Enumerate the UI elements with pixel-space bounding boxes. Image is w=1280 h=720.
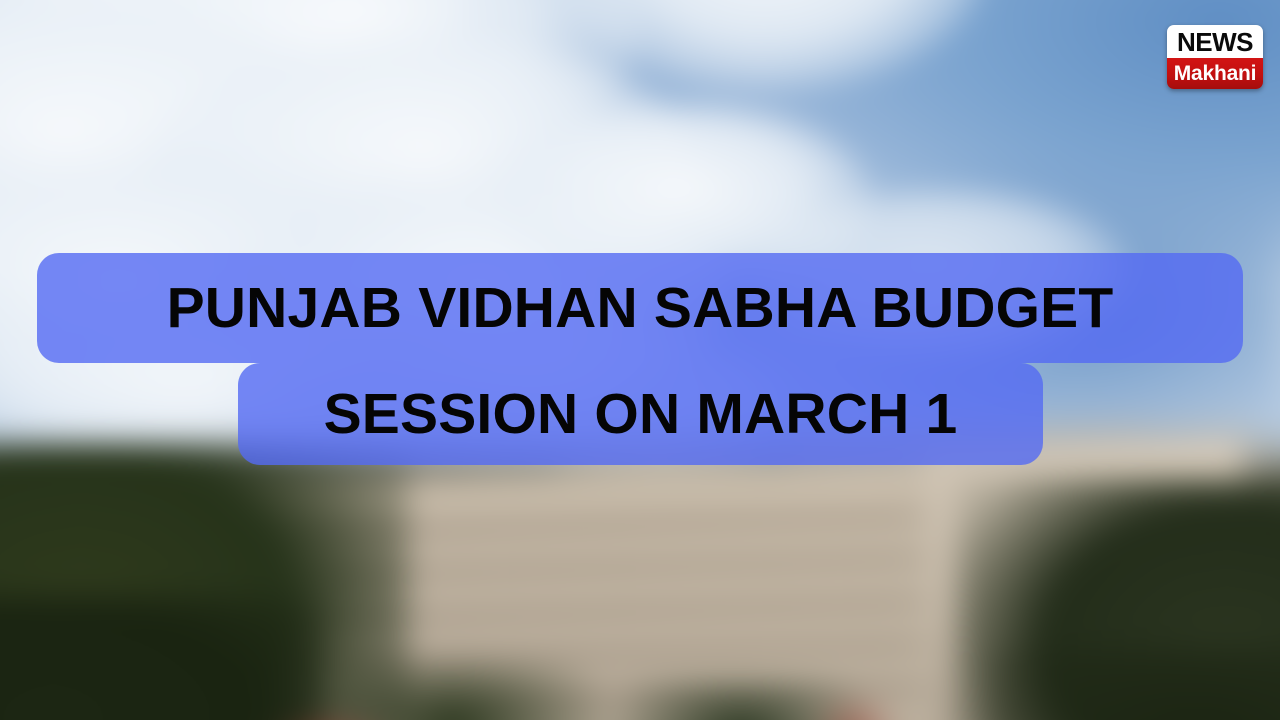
logo-top-band: NEWS <box>1167 25 1263 58</box>
logo-bottom-band: Makhani <box>1167 58 1263 89</box>
headline-block: PUNJAB VIDHAN SABHA BUDGET SESSION ON MA… <box>0 0 1280 720</box>
headline-line-2: SESSION ON MARCH 1 <box>238 363 1043 465</box>
news-graphic-canvas: PUNJAB VIDHAN SABHA BUDGET SESSION ON MA… <box>0 0 1280 720</box>
logo-news-text: NEWS <box>1177 29 1253 55</box>
headline-line-1: PUNJAB VIDHAN SABHA BUDGET <box>37 253 1243 363</box>
logo-makhani-text: Makhani <box>1174 63 1257 84</box>
news-makhani-logo: NEWS Makhani <box>1167 25 1263 89</box>
